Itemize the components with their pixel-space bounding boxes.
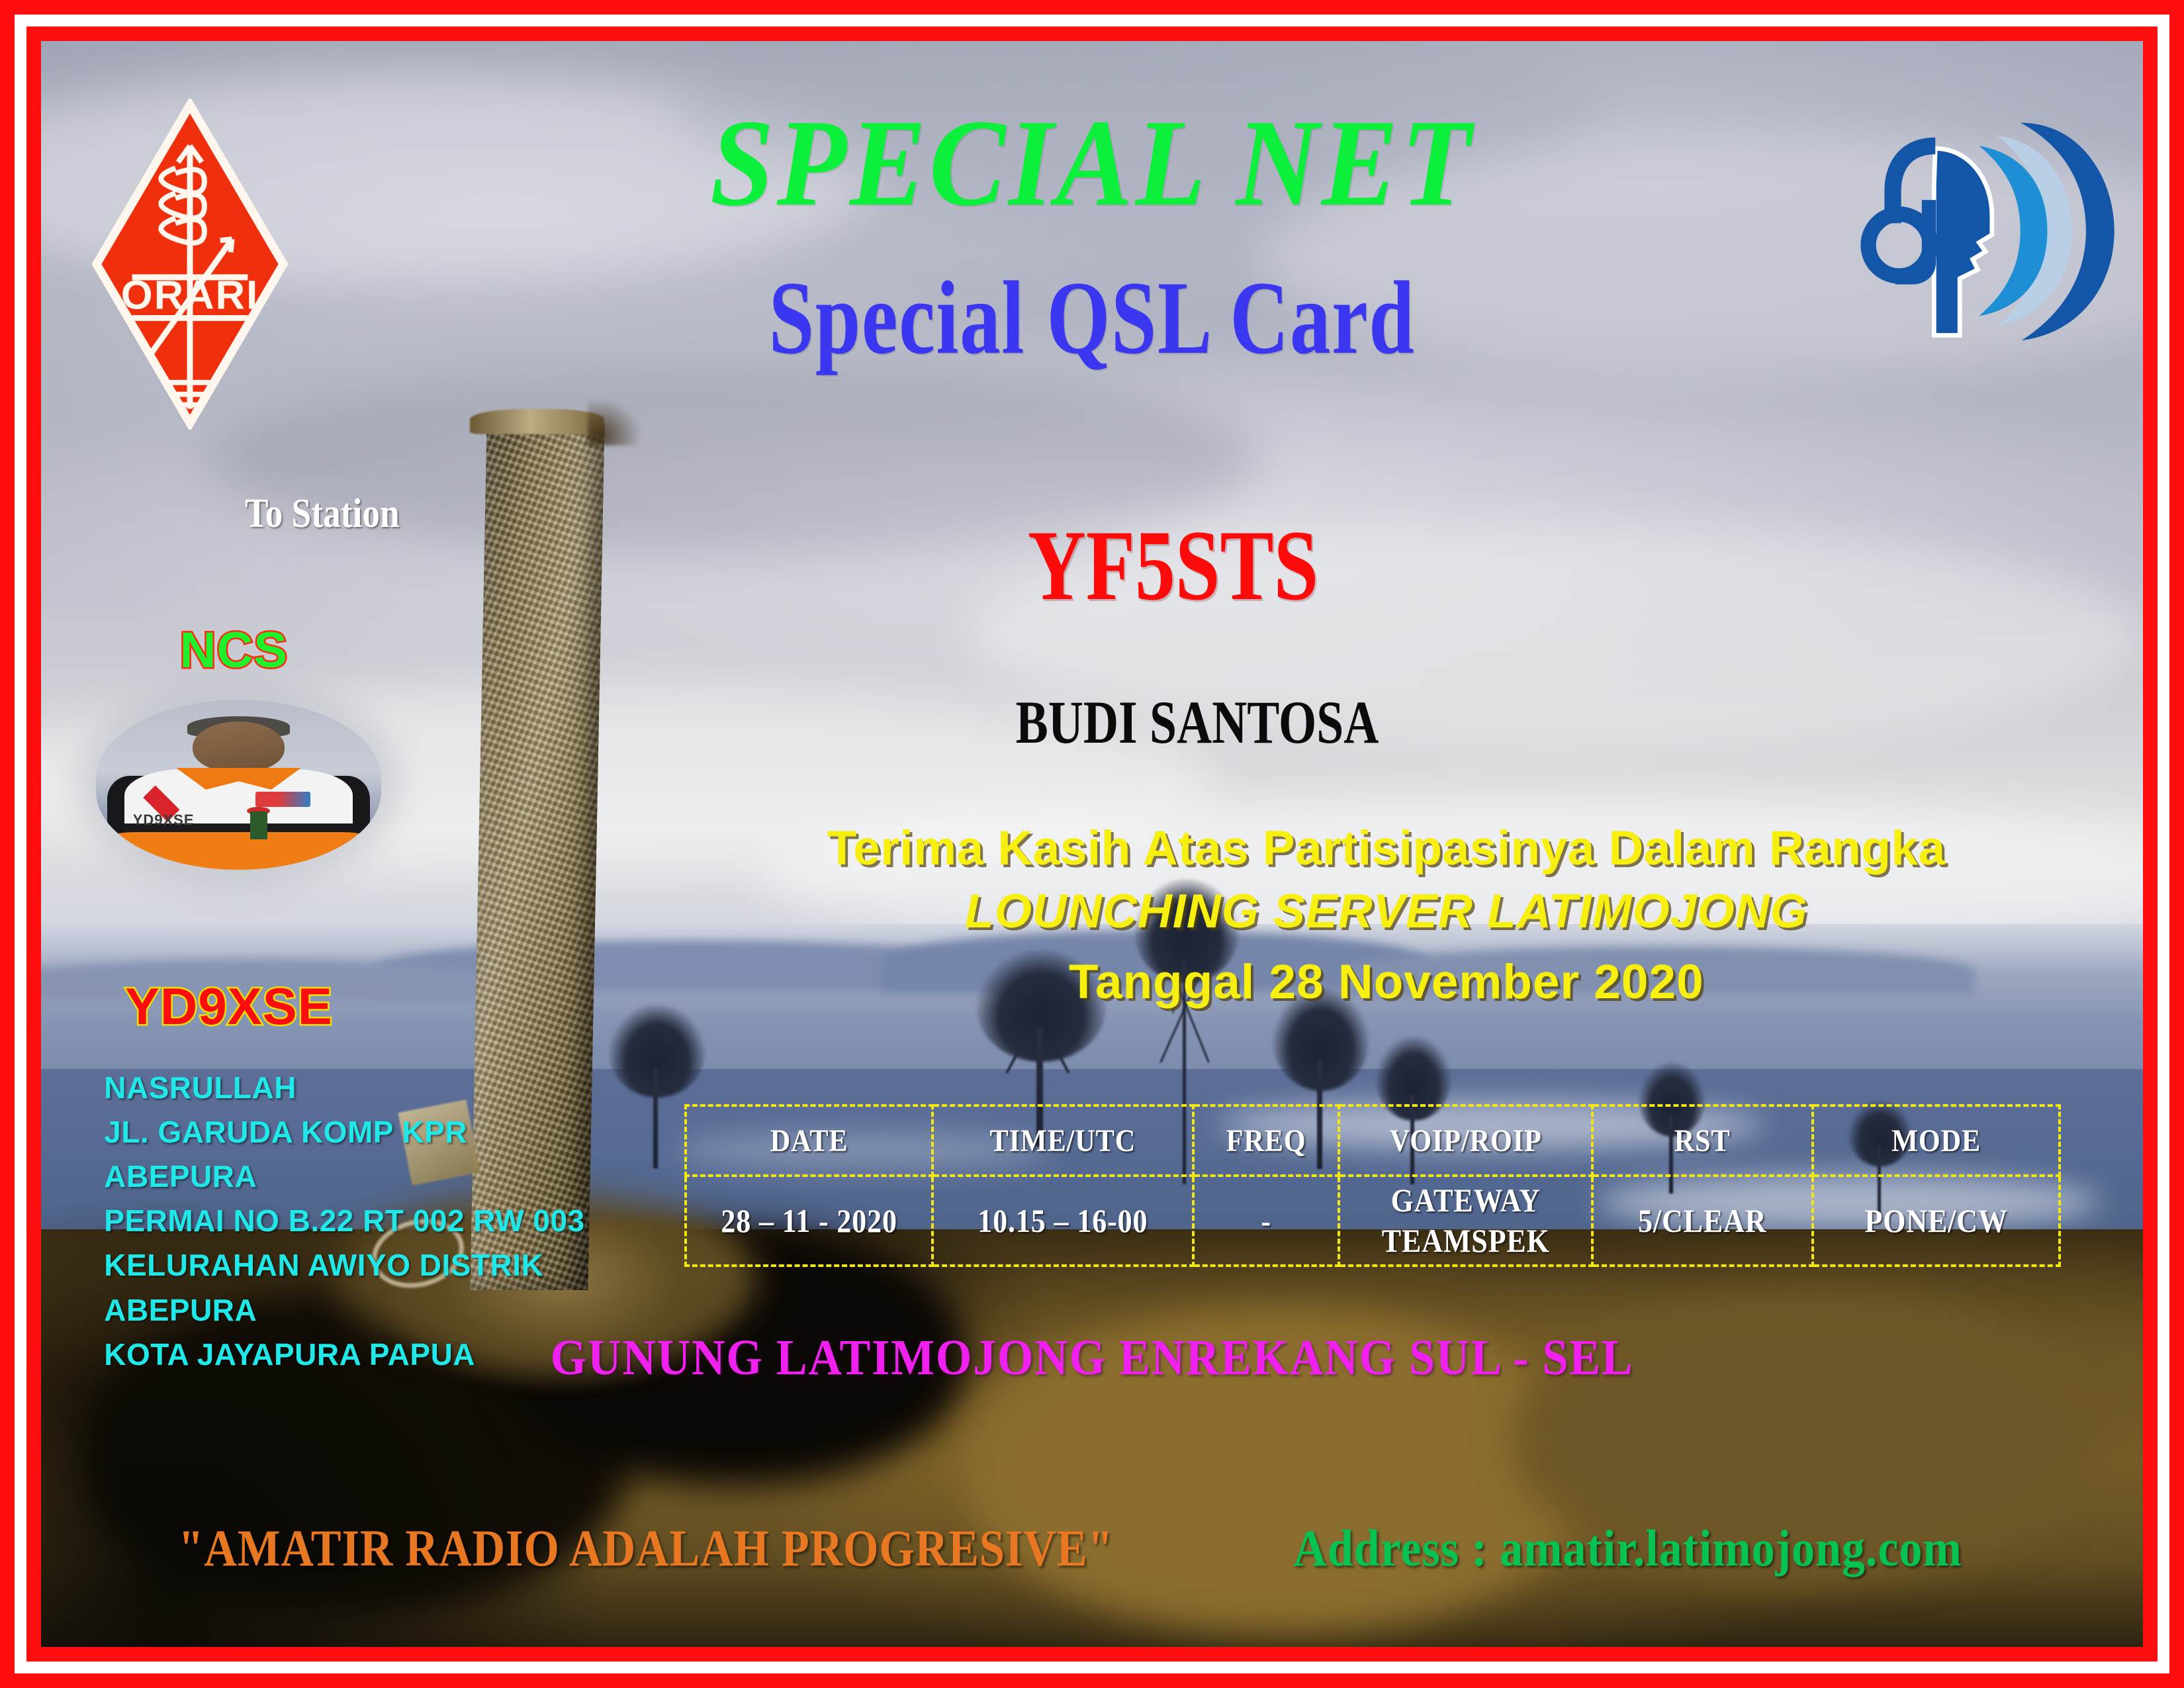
cell-voip: GATEWAY TEAMSPEK [1354, 1176, 1577, 1266]
ncs-callsign: YD9XSE [125, 980, 333, 1032]
ncs-label: NCS [180, 626, 288, 676]
orari-logo-text: ORARI [121, 273, 259, 318]
column-header-rst: RST [1606, 1105, 1799, 1176]
table-header-row: DATE TIME/UTC FREQ VOIP/ROIP RST MODE [686, 1105, 2060, 1176]
column-header-date: DATE [700, 1105, 917, 1176]
address-line: ABEPURA [104, 1154, 584, 1199]
table-row: 28 – 11 - 2020 10.15 – 16-00 - GATEWAY T… [686, 1176, 2060, 1266]
thanks-line-3-date: Tanggal 28 November 2020 [735, 946, 2038, 1019]
qsl-card: ORARI [0, 0, 2184, 1688]
footer-motto: "AMATIR RADIO ADALAH PROGRESIVE" [179, 1519, 1114, 1578]
cell-rst: 5/CLEAR [1606, 1176, 1799, 1266]
qso-log-table: DATE TIME/UTC FREQ VOIP/ROIP RST MODE 28… [684, 1104, 2061, 1267]
card-inner-white-frame: ORARI [15, 15, 2169, 1673]
page-title-special-net: SPECIAL NET [125, 101, 2059, 225]
column-header-voip: VOIP/ROIP [1354, 1105, 1577, 1176]
address-line: JL. GARUDA KOMP KPR [104, 1110, 584, 1154]
column-header-freq: FREQ [1202, 1105, 1330, 1176]
photo-shirt-callsign: YD9XSE [133, 812, 195, 829]
background-photograph: ORARI [41, 41, 2143, 1647]
column-header-mode: MODE [1827, 1105, 2045, 1176]
card-inner-red-frame: ORARI [26, 26, 2158, 1662]
location-caption: GUNUNG LATIMOJONG ENREKANG SUL - SEL [125, 1329, 2059, 1387]
column-header-time: TIME/UTC [948, 1105, 1177, 1176]
cell-time: 10.15 – 16-00 [948, 1176, 1177, 1266]
cell-mode: PONE/CW [1827, 1176, 2045, 1266]
cell-freq: - [1202, 1176, 1330, 1266]
thanks-line-1: Terima Kasih Atas Partisipasinya Dalam R… [735, 820, 2038, 877]
cell-date: 28 – 11 - 2020 [700, 1176, 917, 1266]
address-line: PERMAI NO B.22 RT 002 RW 003 [104, 1199, 584, 1243]
cell-voip-line1: GATEWAY [1356, 1180, 1576, 1221]
cell-voip-line2: TEAMSPEK [1356, 1221, 1576, 1261]
recipient-callsign: YF5STS [1027, 515, 1318, 616]
thanks-message-block: Terima Kasih Atas Partisipasinya Dalam R… [735, 820, 2038, 1019]
thanks-line-2-event: LOUNCHING SERVER LATIMOJONG [735, 877, 2038, 946]
address-line: KELURAHAN AWIYO DISTRIK [104, 1243, 584, 1288]
to-station-label: To Station [245, 491, 400, 538]
page-subtitle-special-qsl-card: Special QSL Card [272, 266, 1911, 371]
ncs-operator-photo: YD9XSE [96, 700, 382, 870]
footer-web-address: Address : amatir.latimojong.com [1293, 1519, 1962, 1578]
address-line: NASRULLAH [104, 1066, 584, 1110]
address-line: ABEPURA [104, 1288, 584, 1333]
recipient-operator-name: BUDI SANTOSA [1015, 692, 1379, 753]
